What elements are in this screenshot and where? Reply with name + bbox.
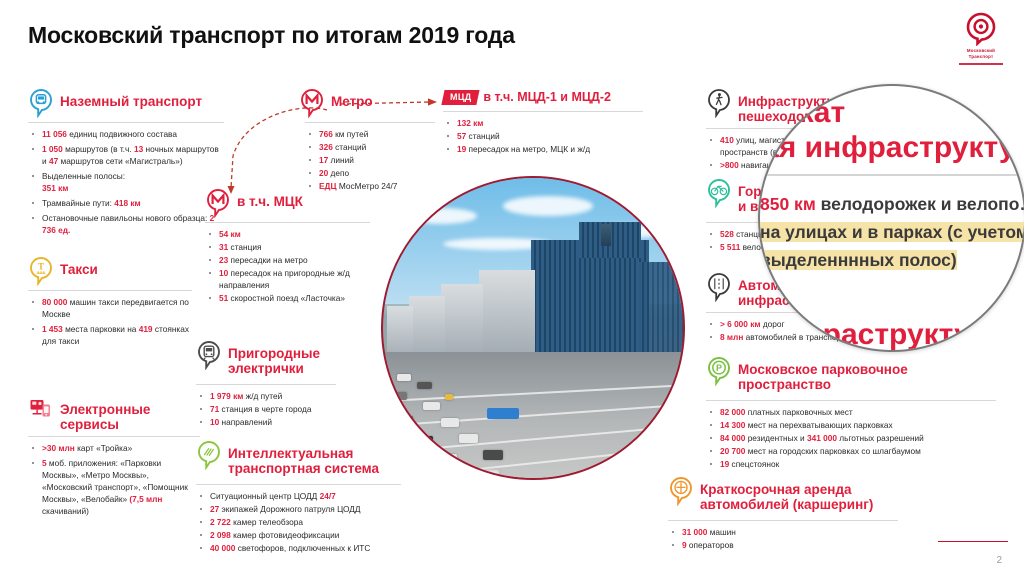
carsharing-list: 31 000 машин9 операторов xyxy=(668,526,968,551)
list-item: 51 скоростной поезд «Ласточка» xyxy=(205,292,370,304)
divider xyxy=(668,520,898,521)
suburban-list: 1 979 км ж/д путей71 станция в черте гор… xyxy=(196,390,336,428)
pedestrian-pin-icon xyxy=(706,88,732,118)
block-title: Пригородныеэлектрички xyxy=(228,340,320,376)
divider xyxy=(443,111,643,112)
mck-list: 54 км31 станция23 пересадки на метро10 п… xyxy=(205,228,370,304)
list-item: 20 700 мест на городских парковках со шл… xyxy=(706,445,1006,457)
block-title: Интеллектуальнаятранспортная система xyxy=(228,440,379,476)
list-item: 132 км xyxy=(443,117,643,129)
list-item: 10 направлений xyxy=(196,416,336,428)
divider xyxy=(706,400,996,401)
list-item: 80 000 машин такси передвигается по Моск… xyxy=(28,296,192,320)
parking-list: 82 000 платных парковочных мест14 300 ме… xyxy=(706,406,1006,470)
list-item: Ситуационный центр ЦОДД 24/7 xyxy=(196,490,401,502)
parking-pin-icon: P xyxy=(706,356,732,386)
magnifier-body: 850 км велодорожек и велопо… на улицах и… xyxy=(760,190,1024,274)
list-item: 27 экипажей Дорожного патруля ЦОДД xyxy=(196,503,401,515)
block-title: Московское парковочноепространство xyxy=(738,356,908,392)
list-item: 10 пересадок на пригородные ж/д направле… xyxy=(205,267,370,291)
magnifier-body-line1: велодорожек и велопо… xyxy=(816,194,1024,214)
block-title: в т.ч. МЦД-1 и МЦД-2 xyxy=(483,90,611,104)
list-item: 1 979 км ж/д путей xyxy=(196,390,336,402)
list-item: Остановочные павильоны нового образца: 2… xyxy=(28,212,224,236)
train-pin-icon xyxy=(196,340,222,370)
magnifier-heading-line2: …ная инфраструктура xyxy=(758,131,1024,164)
block-ground-transport: Наземный транспорт 11 056 единиц подвижн… xyxy=(28,88,224,239)
list-item: 19 спецстоянок xyxy=(706,458,1006,470)
magnifier-footer: …я инфраструкту… xyxy=(758,318,1024,352)
magnifier-overlay[interactable]: …прокат …ная инфраструктура 850 км велод… xyxy=(758,84,1024,352)
list-item: 2 098 камер фотовидеофиксации xyxy=(196,529,401,541)
block-title: Наземный транспорт xyxy=(60,88,202,109)
block-parking-space: P Московское парковочноепространство 82 … xyxy=(706,356,1006,471)
divider xyxy=(196,484,401,485)
list-item: 82 000 платных парковочных мест xyxy=(706,406,1006,418)
list-item: Выделенные полосы:351 км xyxy=(28,170,224,194)
divider xyxy=(196,384,336,385)
its-list: Ситуационный центр ЦОДД 24/727 экипажей … xyxy=(196,490,401,554)
list-item: 19 пересадок на метро, МЦК и ж/д xyxy=(443,143,643,155)
logo-text: Московский Транспорт xyxy=(954,48,1008,59)
list-item: 31 станция xyxy=(205,241,370,253)
magnifier-body-line2: на улицах и в парках (с учетом xyxy=(760,222,1024,242)
svg-text:T: T xyxy=(38,262,44,272)
block-its: Интеллектуальнаятранспортная система Сит… xyxy=(196,440,401,555)
footer-divider xyxy=(938,541,1008,542)
list-item: Трамвайные пути: 418 км xyxy=(28,197,224,209)
block-title: Краткосрочная арендаавтомобилей (каршери… xyxy=(700,476,873,512)
divider xyxy=(305,122,435,123)
list-item: 17 линий xyxy=(305,154,435,166)
logo-pin-icon xyxy=(964,12,998,46)
list-item: 23 пересадки на метро xyxy=(205,254,370,266)
ground-transport-list: 11 056 единиц подвижного состава1 050 ма… xyxy=(28,128,224,236)
metro-pin-icon xyxy=(299,88,325,118)
list-item: 14 300 мест на перехватывающих парковках xyxy=(706,419,1006,431)
page-title: Московский транспорт по итогам 2019 года xyxy=(28,22,515,49)
divider xyxy=(28,436,200,437)
block-carsharing: Краткосрочная арендаавтомобилей (каршери… xyxy=(668,476,968,552)
mtsd-badge: МЦД xyxy=(441,90,479,105)
block-electronic-services: Электронные сервисы >30 млн карт «Тройка… xyxy=(28,396,200,520)
block-mck: в т.ч. МЦК 54 км31 станция23 пересадки н… xyxy=(205,188,370,305)
list-item: 766 км путей xyxy=(305,128,435,140)
magnifier-body-line3: выделенннных полос) xyxy=(760,250,957,270)
city-photo xyxy=(381,176,685,480)
list-item: 57 станций xyxy=(443,130,643,142)
block-title: в т.ч. МЦК xyxy=(237,188,303,209)
block-mtsd: МЦД в т.ч. МЦД-1 и МЦД-2 132 км57 станци… xyxy=(443,90,643,156)
list-item: 54 км xyxy=(205,228,370,240)
moscow-transport-logo: Московский Транспорт xyxy=(954,12,1008,65)
block-title: Электронные сервисы xyxy=(60,396,200,432)
magnifier-content: …прокат …ная инфраструктура 850 км велод… xyxy=(758,96,1024,352)
metro-pin-icon xyxy=(205,188,231,218)
taxi-pin-icon: T xyxy=(28,256,54,286)
magnifier-divider xyxy=(760,174,1024,176)
list-item: 9 операторов xyxy=(668,539,968,551)
magnifier-heading-line1: …прокат xyxy=(758,96,1024,129)
carsharing-pin-icon xyxy=(668,476,694,506)
block-title: Метро xyxy=(331,88,373,109)
list-item: 31 000 машин xyxy=(668,526,968,538)
svg-text:P: P xyxy=(716,363,722,373)
list-item: 1 453 места парковки на 419 стоянках для… xyxy=(28,323,192,347)
list-item: 5 моб. приложения: «Парковки Москвы», «М… xyxy=(28,457,200,517)
electronic-services-list: >30 млн карт «Тройка»5 моб. приложения: … xyxy=(28,442,200,517)
bike-pin-icon xyxy=(706,178,732,208)
divider xyxy=(205,222,370,223)
bus-pin-icon xyxy=(28,88,54,118)
logo-divider xyxy=(959,63,1003,65)
block-taxi: T Такси 80 000 машин такси передвигается… xyxy=(28,256,192,350)
block-suburban-trains: Пригородныеэлектрички 1 979 км ж/д путей… xyxy=(196,340,336,429)
magnifier-value: 850 км xyxy=(760,194,816,214)
list-item: 11 056 единиц подвижного состава xyxy=(28,128,224,140)
divider xyxy=(28,122,224,123)
list-item: 326 станций xyxy=(305,141,435,153)
mtsd-list: 132 км57 станций19 пересадок на метро, М… xyxy=(443,117,643,155)
list-item: 1 050 маршрутов (в т.ч. 13 ночных маршру… xyxy=(28,143,224,167)
its-pin-icon xyxy=(196,440,222,470)
electronic-services-icon xyxy=(28,396,54,426)
list-item: >30 млн карт «Тройка» xyxy=(28,442,200,454)
list-item: 71 станция в черте города xyxy=(196,403,336,415)
divider xyxy=(28,290,192,291)
list-item: 84 000 резидентных и 341 000 льготных ра… xyxy=(706,432,1006,444)
block-title: Такси xyxy=(60,256,98,277)
list-item: 2 722 камер телеобзора xyxy=(196,516,401,528)
taxi-list: 80 000 машин такси передвигается по Моск… xyxy=(28,296,192,347)
list-item: 40 000 светофоров, подключенных к ИТС xyxy=(196,542,401,554)
page-number: 2 xyxy=(996,555,1002,566)
road-pin-icon xyxy=(706,272,732,302)
